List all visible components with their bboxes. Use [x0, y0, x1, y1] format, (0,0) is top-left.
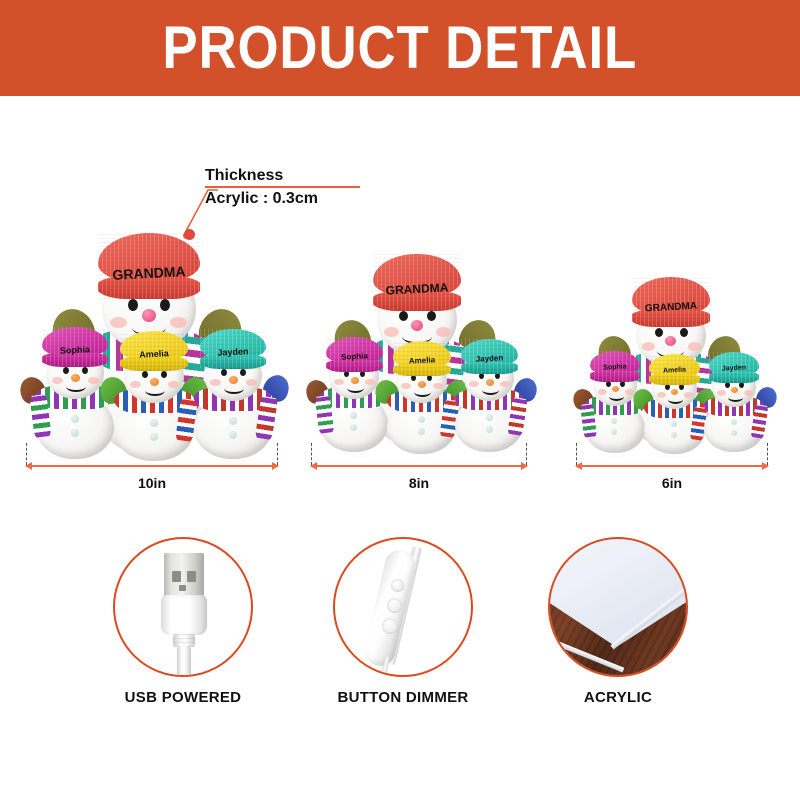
callout-line-1: Thickness — [205, 166, 435, 185]
size-group-8in: GRANDMA Sophia — [305, 248, 533, 500]
acrylic-sheet-icon — [548, 537, 688, 677]
size-group-6in: GRANDMA Sophia — [572, 272, 772, 500]
feature-usb-powered: USB POWERED — [113, 537, 253, 717]
product-detail-page: PRODUCT DETAIL Thickness Acrylic : 0.3cm — [0, 0, 800, 800]
feature-acrylic: ACRYLIC — [548, 537, 688, 717]
feature-button-dimmer: BUTTON DIMMER — [333, 537, 473, 717]
header-banner: PRODUCT DETAIL — [0, 0, 800, 96]
feature-caption: ACRYLIC — [548, 689, 688, 706]
dimension-label: 8in — [311, 475, 527, 491]
dimension-label: 6in — [576, 475, 768, 491]
feature-caption: USB POWERED — [113, 689, 253, 706]
feature-caption: BUTTON DIMMER — [333, 689, 473, 706]
dimension-label: 10in — [26, 475, 278, 491]
callout-underline — [205, 186, 360, 188]
size-group-10in: GRANDMA Sop — [18, 225, 286, 500]
page-title: PRODUCT DETAIL — [163, 18, 638, 78]
callout-line-2: Acrylic : 0.3cm — [205, 189, 435, 208]
thickness-callout: Thickness Acrylic : 0.3cm — [205, 166, 435, 208]
usb-connector-icon — [113, 537, 253, 677]
inline-dimmer-icon — [333, 537, 473, 677]
